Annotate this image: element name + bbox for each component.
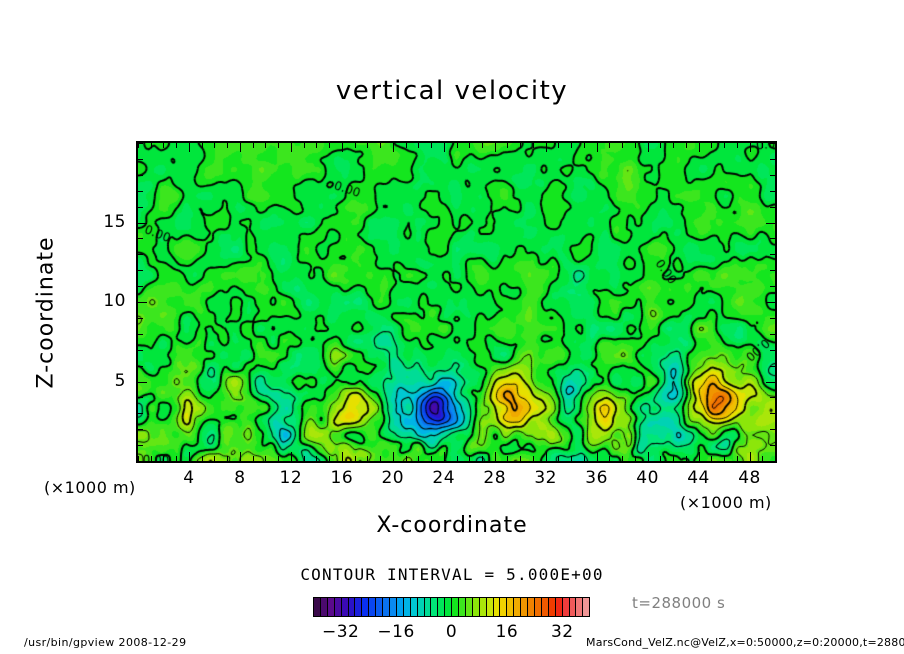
y-axis-title: Z-coordinate [34,213,59,413]
x-tick-minor-top [520,143,521,148]
z-tick-minor [138,270,143,271]
x-tick-major [189,452,190,461]
x-tick-minor [775,456,776,461]
z-tick-minor-right [770,254,775,255]
z-tick-minor [138,191,143,192]
x-tick-label: 4 [169,468,209,488]
z-tick-major-right [766,302,775,303]
x-tick-major-top [648,143,649,152]
x-tick-minor [278,456,279,461]
colorbar-cell [542,598,549,616]
z-tick-minor-right [770,318,775,319]
x-tick-minor [737,456,738,461]
x-tick-label: 12 [271,468,311,488]
z-tick-minor-right [770,429,775,430]
colorbar [313,597,590,617]
x-tick-minor [418,456,419,461]
z-tick-minor [138,397,143,398]
x-tick-minor-top [329,143,330,148]
z-tick-major [138,382,147,383]
colorbar-cell [466,598,473,616]
time-label: t=288000 s [632,594,725,612]
colorbar-cell [535,598,542,616]
colorbar-cell [438,598,445,616]
x-tick-major [393,452,394,461]
colorbar-cell [583,598,589,616]
z-tick-minor [138,334,143,335]
x-tick-minor [431,456,432,461]
x-tick-label: 44 [679,468,719,488]
x-tick-minor-top [469,143,470,148]
colorbar-tick-label: 0 [427,622,477,642]
z-tick-minor [138,238,143,239]
x-tick-minor [520,456,521,461]
z-tick-minor-right [770,350,775,351]
colorbar-cell [418,598,425,616]
x-tick-minor [482,456,483,461]
z-tick-minor-right [770,191,775,192]
page-title: vertical velocity [0,76,904,106]
x-tick-minor [609,456,610,461]
x-tick-minor [571,456,572,461]
z-tick-minor-right [770,366,775,367]
z-tick-minor-right [770,270,775,271]
contour-field-canvas [138,143,775,461]
footer-source-label: MarsCond_VelZ.nc@VelZ,x=0:50000,z=0:2000… [586,636,904,649]
x-tick-minor [457,456,458,461]
x-tick-label: 28 [475,468,515,488]
colorbar-cell [452,598,459,616]
x-tick-label: 48 [730,468,770,488]
x-tick-label: 8 [220,468,260,488]
x-tick-minor-top [673,143,674,148]
x-tick-minor [673,456,674,461]
x-tick-minor [265,456,266,461]
x-tick-minor [469,456,470,461]
x-tick-minor-top [316,143,317,148]
colorbar-cell [507,598,514,616]
colorbar-tick-label: 32 [537,622,587,642]
x-tick-major [240,452,241,461]
z-tick-label: 10 [84,291,126,311]
colorbar-cell [473,598,480,616]
x-tick-minor-top [609,143,610,148]
x-axis-unit: (×1000 m) [680,493,772,512]
x-tick-minor-top [660,143,661,148]
x-tick-minor [151,456,152,461]
x-tick-minor-top [304,143,305,148]
x-tick-minor-top [176,143,177,148]
colorbar-cell [556,598,563,616]
colorbar-cell [521,598,528,616]
colorbar-cell [570,598,577,616]
z-tick-minor-right [770,334,775,335]
x-tick-minor [227,456,228,461]
colorbar-cell [321,598,328,616]
x-tick-minor [622,456,623,461]
x-tick-minor [584,456,585,461]
z-tick-minor [138,207,143,208]
colorbar-tick-label: −32 [316,622,366,642]
x-tick-minor-top [533,143,534,148]
x-tick-minor [533,456,534,461]
colorbar-cell [376,598,383,616]
z-tick-minor-right [770,286,775,287]
z-tick-minor-right [770,238,775,239]
x-tick-minor-top [278,143,279,148]
x-tick-major [546,452,547,461]
z-tick-minor-right [770,445,775,446]
footer-command-label: /usr/bin/gpview 2008-12-29 [24,636,186,649]
x-tick-major [444,452,445,461]
colorbar-cell [563,598,570,616]
z-tick-minor [138,318,143,319]
x-tick-minor-top [163,143,164,148]
x-tick-minor [355,456,356,461]
x-tick-label: 16 [322,468,362,488]
x-tick-minor-top [214,143,215,148]
colorbar-cell [328,598,335,616]
x-tick-minor [380,456,381,461]
x-tick-minor-top [253,143,254,148]
z-tick-minor-right [770,159,775,160]
contour-plot-panel [136,141,777,463]
x-tick-minor-top [571,143,572,148]
colorbar-cell [362,598,369,616]
z-tick-major [138,302,147,303]
x-tick-major [699,452,700,461]
colorbar-cell [355,598,362,616]
z-tick-minor [138,366,143,367]
colorbar-cell [335,598,342,616]
z-tick-minor-right [770,461,775,462]
contour-interval-label: CONTOUR INTERVAL = 5.000E+00 [0,565,904,584]
x-tick-minor [635,456,636,461]
x-tick-minor [558,456,559,461]
colorbar-cell [342,598,349,616]
z-tick-major-right [766,382,775,383]
z-tick-major [138,223,147,224]
x-tick-minor-top [355,143,356,148]
x-tick-label: 36 [577,468,617,488]
x-tick-minor [686,456,687,461]
x-tick-major-top [444,143,445,152]
x-tick-minor-top [457,143,458,148]
y-axis-unit: (×1000 m) [44,478,136,497]
z-tick-minor [138,143,143,144]
colorbar-cell [390,598,397,616]
colorbar-cell [369,598,376,616]
z-tick-label: 15 [84,212,126,232]
x-tick-minor [711,456,712,461]
z-tick-minor-right [770,175,775,176]
x-tick-minor-top [265,143,266,148]
x-tick-label: 20 [373,468,413,488]
x-tick-minor-top [622,143,623,148]
colorbar-cell [576,598,583,616]
z-tick-minor-right [770,143,775,144]
z-tick-minor [138,413,143,414]
x-tick-minor [214,456,215,461]
x-tick-major-top [189,143,190,152]
x-axis-title: X-coordinate [0,513,904,538]
x-tick-minor [253,456,254,461]
z-tick-minor [138,254,143,255]
x-tick-minor-top [711,143,712,148]
x-tick-major-top [699,143,700,152]
x-tick-minor [724,456,725,461]
x-tick-minor [176,456,177,461]
colorbar-cell [528,598,535,616]
z-tick-major-right [766,223,775,224]
x-tick-minor-top [406,143,407,148]
z-tick-minor [138,159,143,160]
x-tick-major [648,452,649,461]
x-tick-minor-top [686,143,687,148]
x-tick-minor-top [584,143,585,148]
x-tick-major [495,452,496,461]
x-tick-minor-top [482,143,483,148]
x-tick-minor [202,456,203,461]
colorbar-cell [383,598,390,616]
x-tick-minor [329,456,330,461]
z-tick-label: 5 [84,371,126,391]
z-tick-minor [138,445,143,446]
x-tick-minor [507,456,508,461]
x-tick-minor [762,456,763,461]
x-tick-minor-top [431,143,432,148]
z-tick-minor [138,350,143,351]
x-tick-minor-top [380,143,381,148]
colorbar-cell [349,598,356,616]
x-tick-minor-top [418,143,419,148]
x-tick-major-top [291,143,292,152]
x-tick-minor-top [558,143,559,148]
x-tick-minor-top [737,143,738,148]
x-tick-minor-top [724,143,725,148]
colorbar-cell [514,598,521,616]
x-tick-minor [406,456,407,461]
x-tick-minor-top [775,143,776,148]
x-tick-label: 40 [628,468,668,488]
x-tick-major-top [546,143,547,152]
colorbar-tick-label: 16 [482,622,532,642]
z-tick-minor [138,461,143,462]
x-tick-major [342,452,343,461]
x-tick-major [750,452,751,461]
x-tick-major-top [495,143,496,152]
x-tick-major-top [393,143,394,152]
colorbar-cell [459,598,466,616]
x-tick-major-top [750,143,751,152]
x-tick-minor-top [151,143,152,148]
colorbar-cell [397,598,404,616]
colorbar-cell [314,598,321,616]
colorbar-cell [445,598,452,616]
x-tick-minor [316,456,317,461]
colorbar-cell [487,598,494,616]
x-tick-major-top [597,143,598,152]
colorbar-tick-label: −16 [371,622,421,642]
z-tick-minor [138,175,143,176]
x-tick-major-top [342,143,343,152]
x-tick-major [597,452,598,461]
z-tick-minor-right [770,397,775,398]
colorbar-cell [549,598,556,616]
x-tick-major-top [240,143,241,152]
x-tick-minor-top [202,143,203,148]
colorbar-cell [411,598,418,616]
x-tick-minor-top [227,143,228,148]
colorbar-cell [431,598,438,616]
x-tick-minor-top [367,143,368,148]
z-tick-minor-right [770,413,775,414]
x-tick-minor-top [762,143,763,148]
x-tick-minor [367,456,368,461]
colorbar-cell [500,598,507,616]
z-tick-minor-right [770,207,775,208]
x-tick-minor-top [507,143,508,148]
colorbar-cell [494,598,501,616]
x-tick-label: 32 [526,468,566,488]
colorbar-cell [425,598,432,616]
x-tick-minor [163,456,164,461]
x-tick-minor-top [635,143,636,148]
x-tick-minor [304,456,305,461]
z-tick-minor [138,429,143,430]
z-tick-minor [138,286,143,287]
x-tick-major [291,452,292,461]
colorbar-cell [480,598,487,616]
x-tick-label: 24 [424,468,464,488]
x-tick-minor [660,456,661,461]
colorbar-cell [404,598,411,616]
